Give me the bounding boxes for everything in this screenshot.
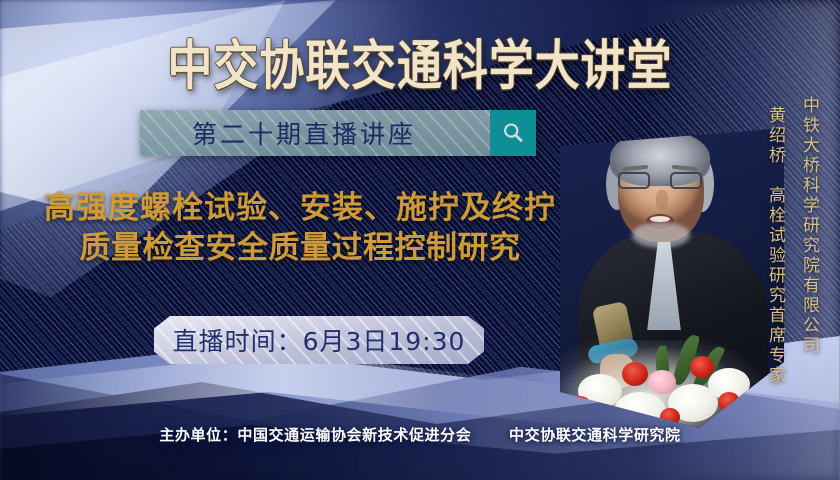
episode-label: 第二十期直播讲座	[140, 110, 490, 156]
broadcast-time-label: 直播时间：6月3日19:30	[173, 322, 466, 358]
footer-organizer-label: 主办单位：中国交通运输协会新技术促进分会	[159, 426, 471, 444]
speaker-name-title: 黄绍桥 高栓试验研究首席专家	[763, 106, 788, 386]
page-title: 中交协联交通科学大讲堂	[0, 22, 840, 100]
footer-institute: 中交协联交通科学研究院	[509, 426, 681, 444]
search-button[interactable]	[490, 110, 536, 156]
livestream-poster: 中交协联交通科学大讲堂 第二十期直播讲座 高强度螺栓试验、安装、施拧及终拧 质量…	[0, 0, 840, 480]
search-icon	[501, 121, 525, 145]
lecture-topic: 高强度螺栓试验、安装、施拧及终拧 质量检查安全质量过程控制研究	[0, 188, 600, 268]
footer-organizers: 主办单位：中国交通运输协会新技术促进分会 中交协联交通科学研究院	[0, 424, 840, 445]
poster-content: 中交协联交通科学大讲堂 第二十期直播讲座 高强度螺栓试验、安装、施拧及终拧 质量…	[0, 0, 840, 480]
lecture-topic-line-2: 质量检查安全质量过程控制研究	[0, 228, 600, 268]
episode-banner[interactable]: 第二十期直播讲座	[140, 110, 536, 156]
lecture-topic-line-1: 高强度螺栓试验、安装、施拧及终拧	[0, 188, 600, 228]
broadcast-time-badge: 直播时间：6月3日19:30	[154, 316, 484, 364]
speaker-organization: 中铁大桥科学研究院有限公司	[797, 96, 822, 356]
